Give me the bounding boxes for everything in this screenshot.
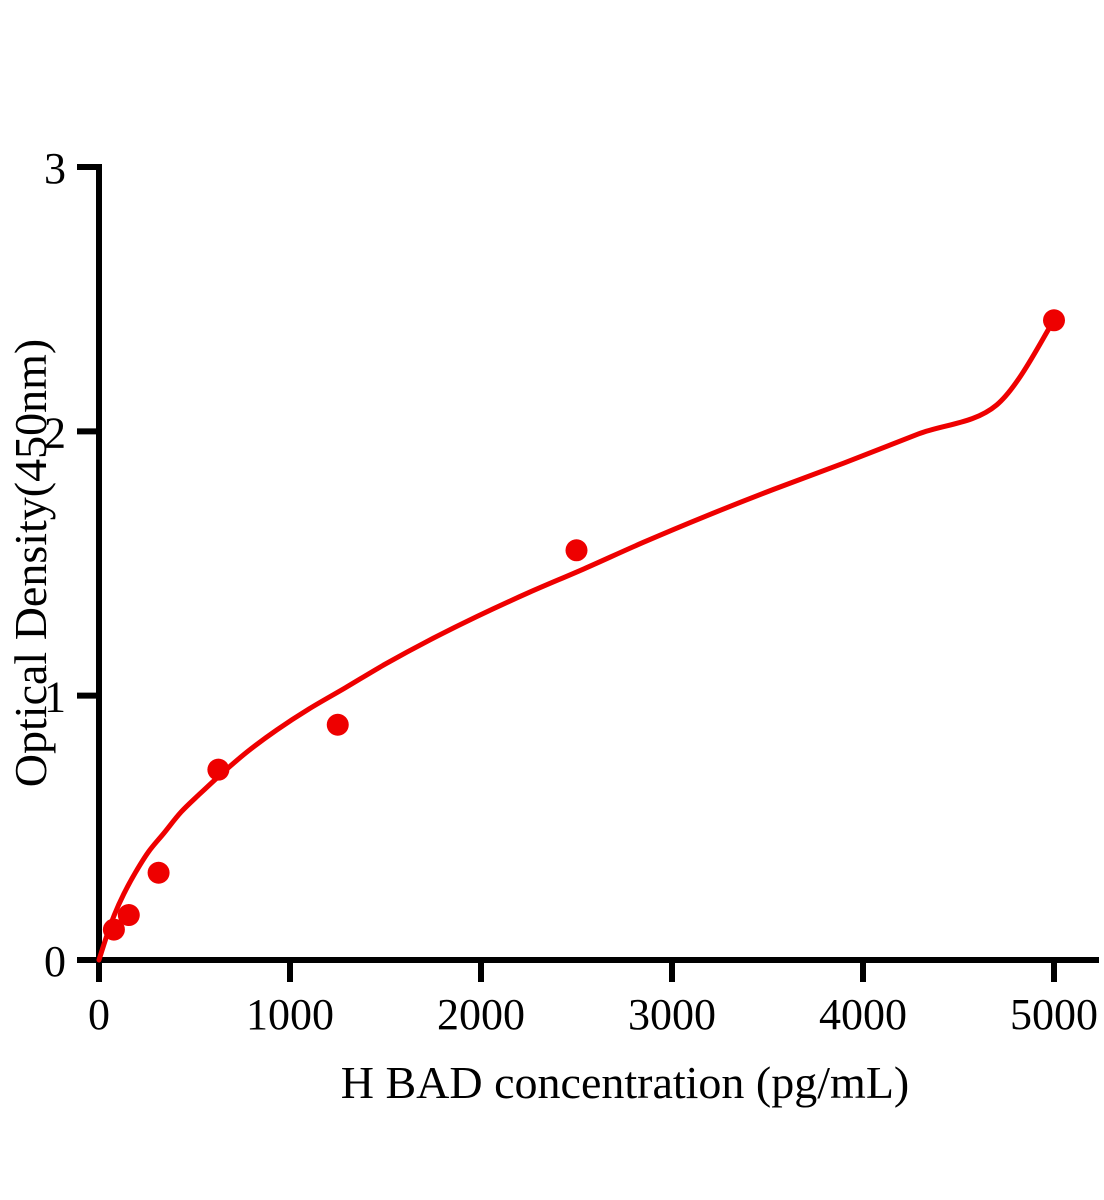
x-tick-label: 5000	[1010, 990, 1098, 1039]
y-tick-label: 3	[44, 144, 66, 193]
x-tick-label: 1000	[246, 990, 334, 1039]
x-axis-title: H BAD concentration (pg/mL)	[341, 1057, 909, 1108]
data-point	[327, 714, 349, 736]
data-point	[1043, 309, 1065, 331]
chart-container: 010002000300040005000 0123 H BAD concent…	[0, 0, 1104, 1200]
y-axis-title: Optical Density(450nm)	[5, 339, 56, 787]
data-point	[207, 759, 229, 781]
y-tick-label: 0	[44, 937, 66, 986]
x-tick-label: 4000	[819, 990, 907, 1039]
data-point	[148, 862, 170, 884]
scatter-plot: 010002000300040005000 0123 H BAD concent…	[0, 0, 1104, 1200]
x-tick-label: 2000	[437, 990, 525, 1039]
data-point	[566, 539, 588, 561]
plot-background	[0, 0, 1104, 1200]
x-tick-label: 0	[88, 990, 110, 1039]
x-tick-label: 3000	[628, 990, 716, 1039]
data-point	[118, 904, 140, 926]
